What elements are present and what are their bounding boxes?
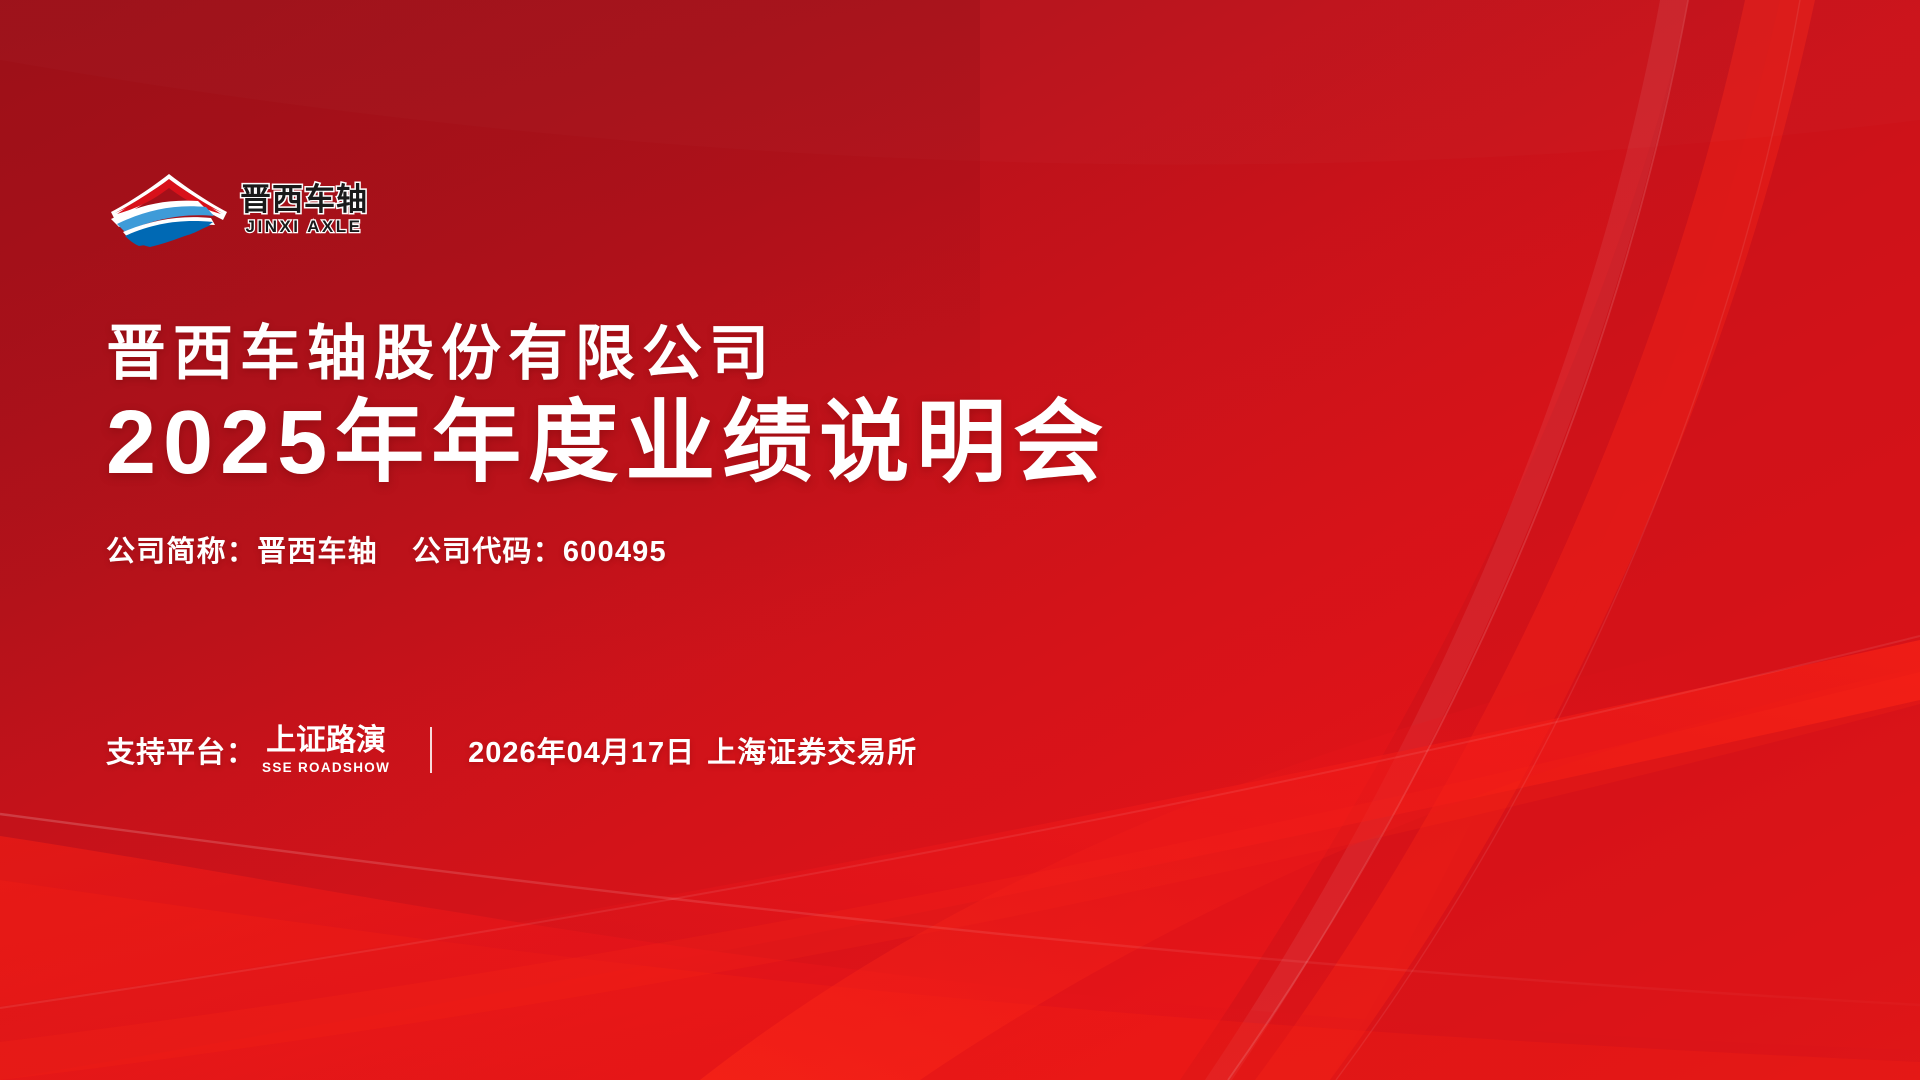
event-title: 2025年年度业绩说明会 — [106, 391, 1110, 495]
company-abbr-value: 晋西车轴 — [257, 536, 378, 568]
poster-content: 晋西车轴 JINXI AXLE 晋西车轴股份有限公司 2025年年度业绩说明会 … — [0, 0, 1920, 1080]
sse-roadshow-english: SSE ROADSHOW — [262, 761, 390, 775]
sse-roadshow-chinese: 上证路演 — [266, 726, 386, 756]
footer-line: 支持平台： 上证路演 SSE ROADSHOW 2026年04月17日上海证券交… — [106, 726, 917, 775]
company-abbr-label: 公司简称： — [106, 536, 257, 568]
support-platform-label: 支持平台： — [106, 729, 256, 771]
company-name: 晋西车轴股份有限公司 — [106, 320, 1110, 387]
company-logo: 晋西车轴 JINXI AXLE — [108, 170, 368, 248]
event-datetime-venue: 2026年04月17日上海证券交易所 — [468, 729, 917, 771]
logo-chinese-name: 晋西车轴 — [240, 184, 368, 215]
jinxi-axle-logo-mark — [108, 170, 230, 248]
event-venue: 上海证券交易所 — [707, 737, 917, 769]
company-meta-line: 公司简称：晋西车轴公司代码：600495 — [106, 528, 1110, 570]
footer-divider — [430, 727, 432, 773]
company-code-value: 600495 — [563, 536, 667, 568]
logo-english-name: JINXI AXLE — [246, 218, 363, 235]
company-code-label: 公司代码： — [412, 536, 563, 568]
sse-roadshow-logo: 上证路演 SSE ROADSHOW — [262, 726, 390, 775]
headline-block: 晋西车轴股份有限公司 2025年年度业绩说明会 公司简称：晋西车轴公司代码：60… — [106, 320, 1110, 570]
event-date: 2026年04月17日 — [468, 737, 695, 769]
logo-wordmark: 晋西车轴 JINXI AXLE — [240, 184, 368, 235]
